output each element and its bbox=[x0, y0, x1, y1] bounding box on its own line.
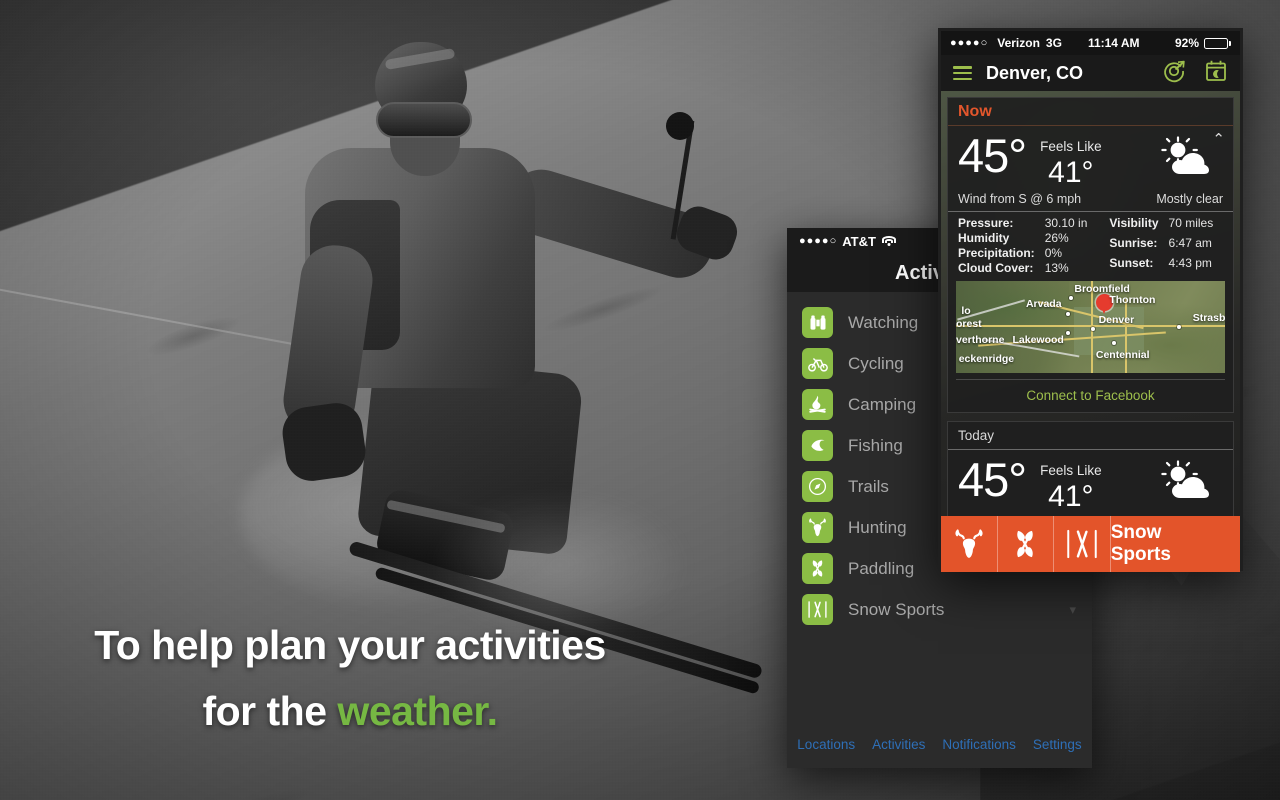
compass-icon bbox=[802, 471, 833, 502]
map-label: orest bbox=[956, 318, 982, 330]
location-title: Denver, CO bbox=[986, 63, 1083, 84]
stat-value: 0% bbox=[1045, 246, 1088, 260]
status-time: 11:14 AM bbox=[1088, 36, 1140, 50]
map-label: Strasb bbox=[1193, 312, 1225, 324]
today-temperature: 45° bbox=[958, 454, 1026, 506]
carrier-label: AT&T bbox=[842, 234, 876, 249]
stat-value: 70 miles bbox=[1169, 216, 1214, 235]
marketing-headline: To help plan your activities for the wea… bbox=[0, 612, 700, 744]
list-item-label: Camping bbox=[848, 395, 916, 415]
feels-like-block: Feels Like 41° bbox=[1040, 130, 1102, 190]
feels-like-value: 41° bbox=[1048, 480, 1093, 513]
map-label: Thornton bbox=[1109, 294, 1155, 306]
stat-key: Visibility bbox=[1109, 216, 1158, 235]
now-condition-row: Wind from S @ 6 mph Mostly clear bbox=[948, 190, 1233, 212]
stats-right-column: Visibility 70 miles Sunrise: 6:47 am Sun… bbox=[1109, 216, 1213, 275]
now-stats: Pressure: 30.10 in Humidity 26% Precipit… bbox=[948, 212, 1233, 281]
deer-head-icon bbox=[802, 512, 833, 543]
today-label: Today bbox=[958, 428, 994, 443]
connect-to-facebook-link[interactable]: Connect to Facebook bbox=[1026, 388, 1154, 403]
tab-settings[interactable]: Settings bbox=[1033, 737, 1082, 752]
tab-notifications[interactable]: Notifications bbox=[942, 737, 1016, 752]
map-label: eckenridge bbox=[959, 353, 1014, 365]
crossed-skis-icon bbox=[802, 594, 833, 625]
map-label: lo bbox=[961, 305, 970, 317]
list-item[interactable]: Snow Sports ▾ bbox=[787, 589, 1092, 630]
feels-like-label: Feels Like bbox=[1040, 463, 1102, 478]
radar-target-icon[interactable] bbox=[1162, 59, 1186, 88]
promo-stage: To help plan your activities for the wea… bbox=[0, 0, 1280, 800]
sun-behind-cloud-icon bbox=[1161, 454, 1223, 509]
tab-locations[interactable]: Locations bbox=[797, 737, 855, 752]
stat-key: Sunrise: bbox=[1109, 236, 1158, 255]
tab-activities[interactable]: Activities bbox=[872, 737, 925, 752]
today-card: Today 45° Feels Like 41° bbox=[947, 421, 1234, 529]
map-label: Lakewood bbox=[1012, 334, 1063, 346]
wind-info: Wind from S @ 6 mph bbox=[958, 192, 1081, 206]
list-item-label: Hunting bbox=[848, 518, 907, 538]
stat-value: 6:47 am bbox=[1169, 236, 1214, 255]
stat-key: Sunset: bbox=[1109, 256, 1158, 275]
calendar-moon-icon[interactable] bbox=[1204, 59, 1228, 88]
feels-like-value: 41° bbox=[1048, 156, 1093, 189]
stat-value: 30.10 in bbox=[1045, 216, 1088, 230]
activities-tab-bar: Locations Activities Notifications Setti… bbox=[787, 737, 1092, 752]
now-temperature-row: 45° Feels Like 41° bbox=[948, 126, 1233, 190]
weather-status-bar: ●●●●○ Verizon 3G 11:14 AM 92% bbox=[941, 31, 1240, 55]
weather-phone: ●●●●○ Verizon 3G 11:14 AM 92% Denver, CO bbox=[938, 28, 1243, 571]
sport-selector-bar: Snow Sports bbox=[941, 516, 1240, 572]
stat-value: 13% bbox=[1045, 261, 1088, 275]
condition-label: Mostly clear bbox=[1156, 192, 1223, 206]
today-card-header: Today bbox=[948, 422, 1233, 450]
map-label: Denver bbox=[1099, 314, 1135, 326]
hamburger-icon[interactable] bbox=[953, 66, 972, 80]
headline-accent-word: weather. bbox=[337, 688, 497, 734]
signal-strength-dots-icon: ●●●●○ bbox=[799, 235, 837, 247]
list-item-label: Trails bbox=[848, 477, 889, 497]
list-item-label: Cycling bbox=[848, 354, 904, 374]
stat-key: Precipitation: bbox=[958, 246, 1035, 260]
map-label: Arvada bbox=[1026, 298, 1062, 310]
headline-line-2: for the weather. bbox=[0, 678, 700, 744]
stat-key: Humidity bbox=[958, 231, 1035, 245]
fish-icon bbox=[802, 430, 833, 461]
battery-icon bbox=[1204, 38, 1231, 49]
now-card-header: Now bbox=[948, 98, 1233, 126]
map-label: verthorne bbox=[956, 334, 1004, 346]
stat-value: 26% bbox=[1045, 231, 1088, 245]
battery-percent-label: 92% bbox=[1175, 36, 1199, 50]
map-label: Centennial bbox=[1096, 349, 1150, 361]
now-label: Now bbox=[958, 103, 992, 120]
chevron-down-icon[interactable]: ▾ bbox=[1069, 602, 1076, 618]
headline-line-1: To help plan your activities bbox=[94, 622, 606, 668]
kayak-paddle-icon bbox=[802, 553, 833, 584]
list-item-label: Snow Sports bbox=[848, 600, 944, 620]
carrier-label: Verizon bbox=[997, 36, 1040, 50]
nav-actions bbox=[1162, 59, 1228, 88]
campfire-icon bbox=[802, 389, 833, 420]
bicycle-icon bbox=[802, 348, 833, 379]
stat-key: Pressure: bbox=[958, 216, 1035, 230]
wifi-icon bbox=[882, 236, 896, 247]
weather-content: Now 45° Feels Like 41° bbox=[941, 91, 1240, 572]
crossed-skis-icon[interactable] bbox=[1054, 516, 1111, 572]
feels-like-label: Feels Like bbox=[1040, 139, 1102, 154]
stat-key: Cloud Cover: bbox=[958, 261, 1035, 275]
signal-strength-dots-icon: ●●●●○ bbox=[950, 37, 988, 49]
network-type-label: 3G bbox=[1046, 36, 1062, 50]
headline-line-2-plain: for the bbox=[202, 688, 337, 734]
facebook-connect-row[interactable]: Connect to Facebook bbox=[956, 379, 1225, 412]
chevron-up-icon[interactable]: ⌃ bbox=[1212, 130, 1225, 148]
location-map[interactable]: Broomfield Thornton Arvada Denver Strasb… bbox=[956, 281, 1225, 373]
list-item-label: Watching bbox=[848, 313, 918, 333]
kayak-paddle-icon[interactable] bbox=[998, 516, 1055, 572]
selected-sport-label: Snow Sports bbox=[1111, 522, 1224, 566]
today-feels-like-block: Feels Like 41° bbox=[1040, 454, 1102, 514]
list-item-label: Paddling bbox=[848, 559, 914, 579]
deer-head-icon[interactable] bbox=[941, 516, 998, 572]
current-temperature: 45° bbox=[958, 130, 1026, 182]
now-card: Now 45° Feels Like 41° bbox=[947, 97, 1234, 413]
weather-nav-bar: Denver, CO bbox=[941, 55, 1240, 91]
binoculars-icon bbox=[802, 307, 833, 338]
stat-value: 4:43 pm bbox=[1169, 256, 1214, 275]
stats-left-column: Pressure: 30.10 in Humidity 26% Precipit… bbox=[958, 216, 1087, 275]
list-item-label: Fishing bbox=[848, 436, 903, 456]
